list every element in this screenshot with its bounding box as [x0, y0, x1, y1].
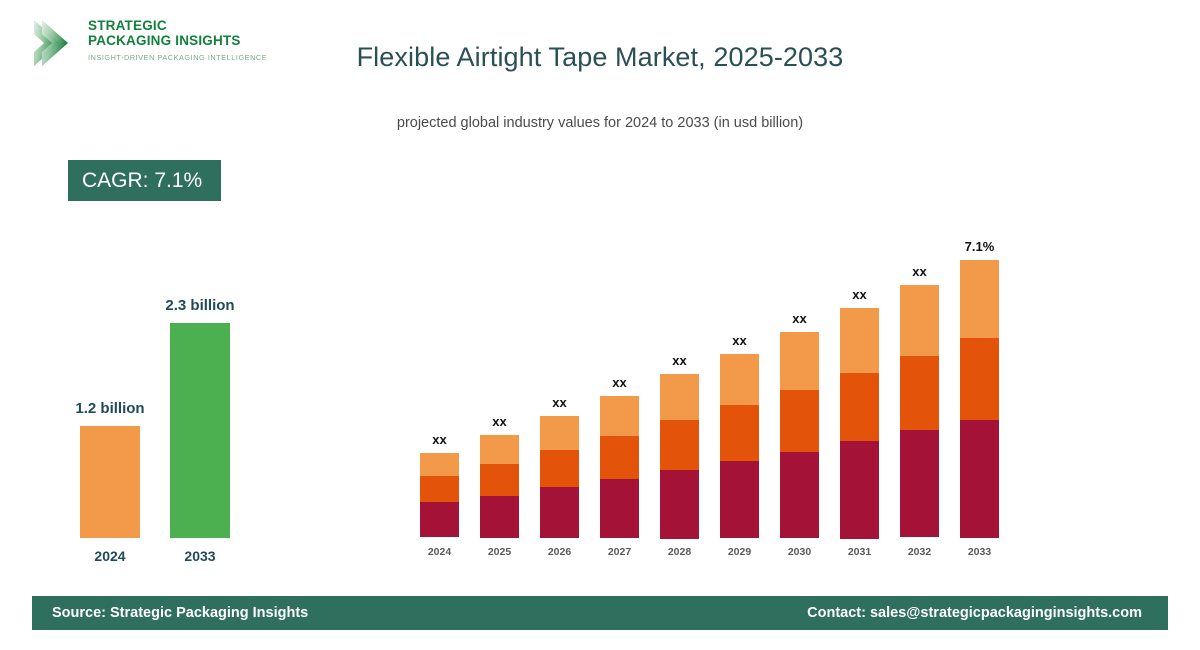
stacked-bar-segment-segment-1 [600, 479, 639, 538]
stacked-bar-segment-segment-2 [480, 464, 519, 496]
stacked-bar-group: xx2029 [720, 200, 759, 560]
comparison-bar-value-2024: 1.2 billion [30, 400, 190, 417]
stacked-bar-segment-segment-3 [600, 396, 639, 436]
stacked-bar-2028 [660, 374, 699, 538]
stacked-bar-group: xx2031 [840, 200, 879, 560]
stacked-bar-segment-segment-2 [600, 436, 639, 479]
stacked-bar-xlabel-2030: 2030 [780, 546, 819, 558]
stacked-bar-2025 [480, 435, 519, 538]
stacked-bar-segment-segment-2 [720, 405, 759, 461]
stacked-bar-segment-segment-1 [720, 461, 759, 538]
stacked-bar-xlabel-2029: 2029 [720, 546, 759, 558]
stacked-bar-2030 [780, 332, 819, 538]
brand-name-line1: STRATEGIC [88, 18, 267, 33]
comparison-bar-2024: 1.2 billion [80, 426, 140, 538]
stacked-bar-segment-segment-3 [840, 308, 879, 373]
stacked-bar-top-label-2029: xx [700, 333, 780, 348]
infographic-canvas: STRATEGIC PACKAGING INSIGHTS INSIGHT-DRI… [0, 0, 1200, 650]
page-subtitle: projected global industry values for 202… [0, 115, 1200, 131]
stacked-bar-segment-segment-1 [900, 430, 939, 537]
stacked-bar-segment-segment-3 [720, 354, 759, 405]
stacked-bar-segment-segment-3 [420, 453, 459, 476]
stacked-bar-segment-segment-2 [960, 338, 999, 420]
stacked-bar-group: xx2026 [540, 200, 579, 560]
comparison-xlabel-2024: 2024 [80, 548, 140, 564]
footer-bar: Source: Strategic Packaging Insights Con… [32, 596, 1168, 630]
stacked-bar-segment-segment-2 [780, 390, 819, 452]
segment-forecast-stacked-chart: xx2024xx2025xx2026xx2027xx2028xx2029xx20… [410, 200, 1020, 560]
cagr-badge: CAGR: 7.1% [68, 160, 221, 201]
stacked-bar-2026 [540, 416, 579, 538]
stacked-bar-group: xx2032 [900, 200, 939, 560]
stacked-bar-xlabel-2027: 2027 [600, 546, 639, 558]
page-title: Flexible Airtight Tape Market, 2025-2033 [0, 42, 1200, 73]
stacked-bar-segment-segment-2 [540, 450, 579, 487]
stacked-bar-group: 7.1%2033 [960, 200, 999, 560]
comparison-bar-rect-2024 [80, 426, 140, 538]
stacked-bar-segment-segment-1 [840, 441, 879, 539]
stacked-bar-top-label-2031: xx [820, 287, 900, 302]
stacked-bar-segment-segment-2 [660, 420, 699, 470]
stacked-bar-top-label-2025: xx [460, 414, 540, 429]
stacked-bar-2031 [840, 308, 879, 538]
stacked-bar-xlabel-2024: 2024 [420, 546, 459, 558]
stacked-bar-segment-segment-1 [420, 502, 459, 537]
stacked-bar-top-label-2033: 7.1% [940, 239, 1020, 254]
comparison-bar-2033: 2.3 billion [170, 323, 230, 538]
stacked-bar-top-label-2027: xx [580, 375, 660, 390]
stacked-bar-2029 [720, 354, 759, 538]
stacked-bar-xlabel-2031: 2031 [840, 546, 879, 558]
stacked-bar-xlabel-2028: 2028 [660, 546, 699, 558]
cagr-badge-label: CAGR: 7.1% [82, 169, 202, 193]
endpoint-comparison-chart: 1.2 billion 2.3 billion 2024 2033 [50, 300, 290, 570]
stacked-bar-xlabel-2032: 2032 [900, 546, 939, 558]
stacked-bar-segment-segment-1 [960, 420, 999, 538]
stacked-bar-group: xx2025 [480, 200, 519, 560]
stacked-bar-segment-segment-3 [780, 332, 819, 390]
footer-source: Source: Strategic Packaging Insights [52, 605, 308, 621]
stacked-bar-2027 [600, 396, 639, 538]
stacked-bar-2024 [420, 453, 459, 538]
stacked-bar-segment-segment-3 [480, 435, 519, 464]
stacked-bar-top-label-2032: xx [880, 264, 960, 279]
stacked-bar-segment-segment-3 [660, 374, 699, 420]
comparison-bar-value-2033: 2.3 billion [120, 297, 280, 314]
stacked-bar-segment-segment-2 [840, 373, 879, 441]
stacked-bar-xlabel-2033: 2033 [960, 546, 999, 558]
stacked-bar-segment-segment-1 [480, 496, 519, 538]
stacked-bar-segment-segment-3 [900, 285, 939, 356]
stacked-bar-top-label-2026: xx [520, 395, 600, 410]
stacked-bar-segment-segment-1 [780, 452, 819, 538]
stacked-bar-segment-segment-2 [420, 476, 459, 502]
stacked-bar-segment-segment-2 [900, 356, 939, 430]
stacked-bar-group: xx2024 [420, 200, 459, 560]
comparison-bar-rect-2033 [170, 323, 230, 538]
stacked-bar-segment-segment-3 [540, 416, 579, 450]
stacked-bar-2032 [900, 285, 939, 538]
stacked-bar-top-label-2028: xx [640, 353, 720, 368]
stacked-bar-top-label-2030: xx [760, 311, 840, 326]
stacked-bar-xlabel-2025: 2025 [480, 546, 519, 558]
stacked-bar-group: xx2028 [660, 200, 699, 560]
footer-contact: Contact: sales@strategicpackaginginsight… [807, 605, 1148, 621]
stacked-bar-group: xx2027 [600, 200, 639, 560]
stacked-bar-2033 [960, 260, 999, 538]
stacked-bar-group: xx2030 [780, 200, 819, 560]
stacked-bar-top-label-2024: xx [400, 432, 480, 447]
stacked-bar-segment-segment-1 [660, 470, 699, 539]
stacked-bar-xlabel-2026: 2026 [540, 546, 579, 558]
comparison-xlabel-2033: 2033 [170, 548, 230, 564]
stacked-bar-segment-segment-3 [960, 260, 999, 338]
stacked-bar-segment-segment-1 [540, 487, 579, 538]
